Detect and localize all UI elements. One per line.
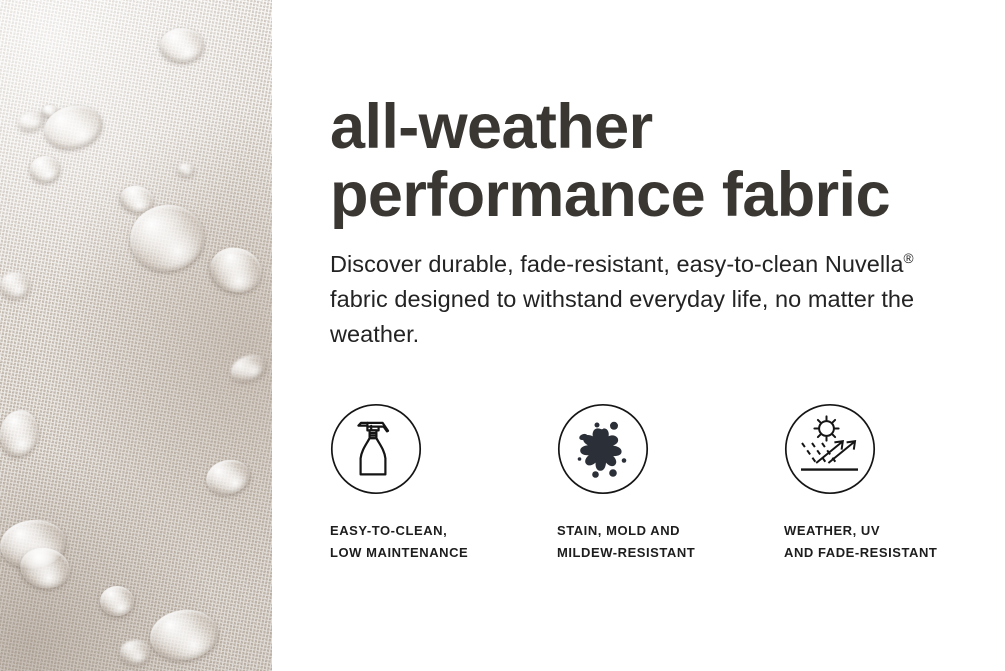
promo-description-prefix: Discover durable, fade-resistant, easy-t…: [330, 251, 904, 277]
feature-item-stain-resistant: STAIN, MOLD AND MILDEW-RESISTANT: [557, 403, 784, 563]
feature-item-easy-to-clean: EASY-TO-CLEAN, LOW MAINTENANCE: [330, 403, 557, 563]
feature-label: WEATHER, UV AND FADE-RESISTANT: [784, 495, 1005, 563]
feature-label: EASY-TO-CLEAN, LOW MAINTENANCE: [330, 495, 557, 563]
water-droplet: [0, 272, 30, 298]
water-droplet: [120, 640, 150, 664]
registered-trademark-symbol: ®: [904, 251, 914, 266]
spray-bottle-icon: [330, 403, 422, 495]
water-droplet: [160, 28, 204, 62]
water-droplet: [30, 156, 60, 182]
fabric-photo: [0, 0, 272, 671]
promo-description: Discover durable, fade-resistant, easy-t…: [330, 247, 950, 352]
promo-description-suffix: fabric designed to withstand everyday li…: [330, 286, 914, 347]
stain-splat-icon: [557, 403, 649, 495]
promo-content: all-weather performance fabric Discover …: [330, 0, 1005, 671]
feature-label: STAIN, MOLD AND MILDEW-RESISTANT: [557, 495, 784, 563]
page-title: all-weather performance fabric: [330, 93, 990, 229]
feature-item-weather-uv-resistant: WEATHER, UV AND FADE-RESISTANT: [784, 403, 1005, 563]
all-weather-fabric-banner: all-weather performance fabric Discover …: [0, 0, 1005, 671]
sun-uv-reflect-icon: [784, 403, 876, 495]
feature-list: EASY-TO-CLEAN, LOW MAINTENANCE: [330, 403, 1005, 563]
water-droplet: [100, 586, 134, 616]
water-droplet: [178, 163, 194, 176]
